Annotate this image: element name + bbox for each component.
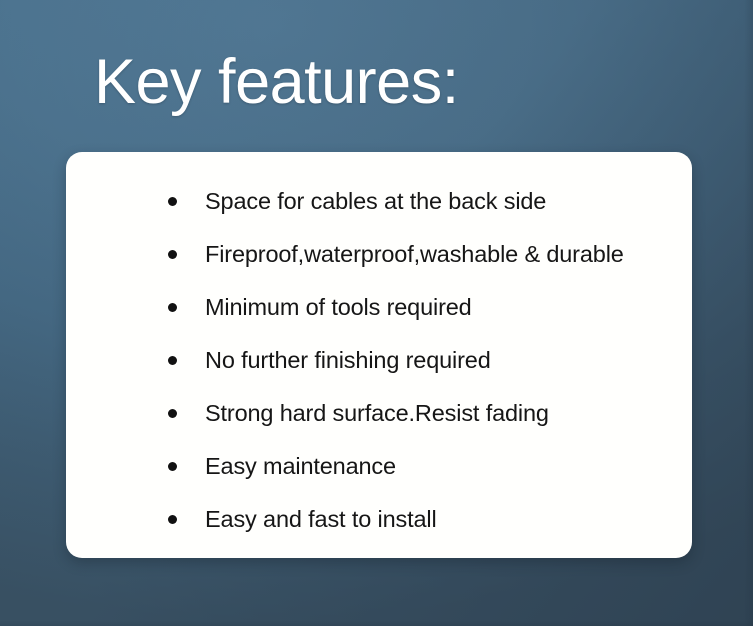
list-item-label: Strong hard surface.Resist fading xyxy=(205,399,549,427)
bullet-dot-icon xyxy=(168,303,177,312)
list-item: Easy maintenance xyxy=(66,439,692,492)
list-item-label: No further finishing required xyxy=(205,346,491,374)
list-item-label: Easy maintenance xyxy=(205,452,396,480)
bullet-dot-icon xyxy=(168,409,177,418)
background-right-edge-band xyxy=(744,0,753,626)
list-item-label: Minimum of tools required xyxy=(205,293,472,321)
list-item-label: Fireproof,waterproof,washable & durable xyxy=(205,240,624,268)
slide-canvas: Key features: Space for cables at the ba… xyxy=(0,0,753,626)
bullet-dot-icon xyxy=(168,462,177,471)
list-item: Space for cables at the back side xyxy=(66,174,692,227)
background-bottom-edge-band xyxy=(0,620,753,626)
list-item: Fireproof,waterproof,washable & durable xyxy=(66,227,692,280)
page-title: Key features: xyxy=(94,46,459,118)
features-list: Space for cables at the back side Firepr… xyxy=(66,152,692,545)
bullet-dot-icon xyxy=(168,515,177,524)
bullet-dot-icon xyxy=(168,356,177,365)
list-item: Easy and fast to install xyxy=(66,492,692,545)
list-item: No further finishing required xyxy=(66,333,692,386)
bullet-dot-icon xyxy=(168,250,177,259)
list-item: Strong hard surface.Resist fading xyxy=(66,386,692,439)
list-item: Minimum of tools required xyxy=(66,280,692,333)
list-item-label: Space for cables at the back side xyxy=(205,187,546,215)
features-card: Space for cables at the back side Firepr… xyxy=(66,152,692,558)
bullet-dot-icon xyxy=(168,197,177,206)
list-item-label: Easy and fast to install xyxy=(205,505,437,533)
